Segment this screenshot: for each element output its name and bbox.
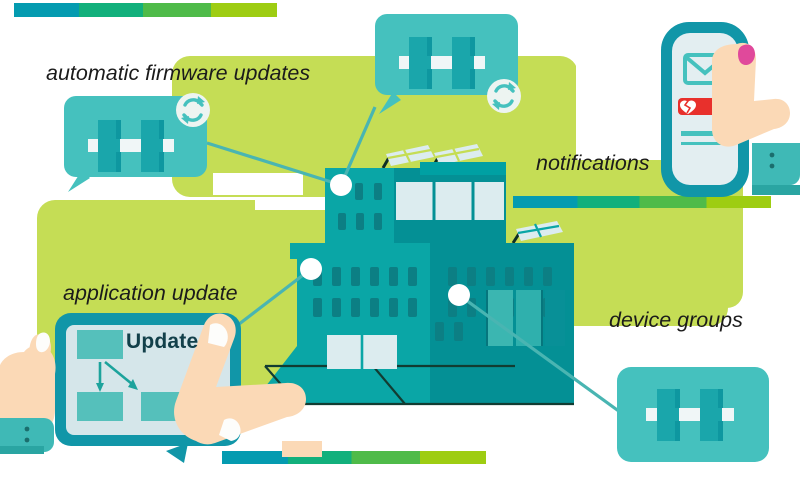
device-bar-notch — [452, 56, 474, 69]
device-bar-notch — [657, 408, 679, 421]
watch-dot — [25, 438, 30, 443]
flow-box-top — [77, 330, 123, 359]
label-device-groups: device groups — [609, 310, 743, 332]
infographic-canvas: automatic firmware updates application u… — [0, 0, 800, 486]
watch-band-lower — [0, 446, 44, 454]
device-bar-notch — [700, 408, 722, 421]
hand-left — [0, 332, 56, 454]
building-roof-cap — [420, 162, 506, 175]
white-knockout-1 — [213, 173, 303, 195]
device-card-groups[interactable] — [617, 367, 769, 462]
right-progress-bar — [513, 196, 771, 208]
bottom-progress-bar — [222, 451, 486, 464]
top-progress-bar — [14, 3, 277, 17]
entrance-block-right — [430, 346, 574, 404]
watch-dot — [25, 427, 30, 432]
building-mid-slab-right — [430, 243, 574, 259]
watch-dot — [770, 153, 775, 158]
sync-icon[interactable] — [176, 93, 210, 127]
watch-band-lower — [752, 185, 800, 195]
tablet-update-title: Update — [126, 331, 198, 352]
watch-dot — [770, 164, 775, 169]
label-automatic-firmware-updates: automatic firmware updates — [46, 63, 310, 85]
node-dot-firmware[interactable] — [330, 174, 352, 196]
sync-icon[interactable] — [487, 79, 521, 113]
device-bar-notch — [409, 56, 431, 69]
label-application-update: application update — [63, 283, 238, 305]
wrist — [282, 441, 322, 457]
node-dot-app[interactable] — [300, 258, 322, 280]
device-bar-notch — [141, 139, 163, 152]
label-notifications: notifications — [536, 153, 650, 175]
watch-band — [752, 143, 800, 185]
device-bar-notch — [98, 139, 120, 152]
building-glass-band — [396, 182, 504, 220]
node-dot-groups[interactable] — [448, 284, 470, 306]
flow-box-left — [77, 392, 123, 421]
